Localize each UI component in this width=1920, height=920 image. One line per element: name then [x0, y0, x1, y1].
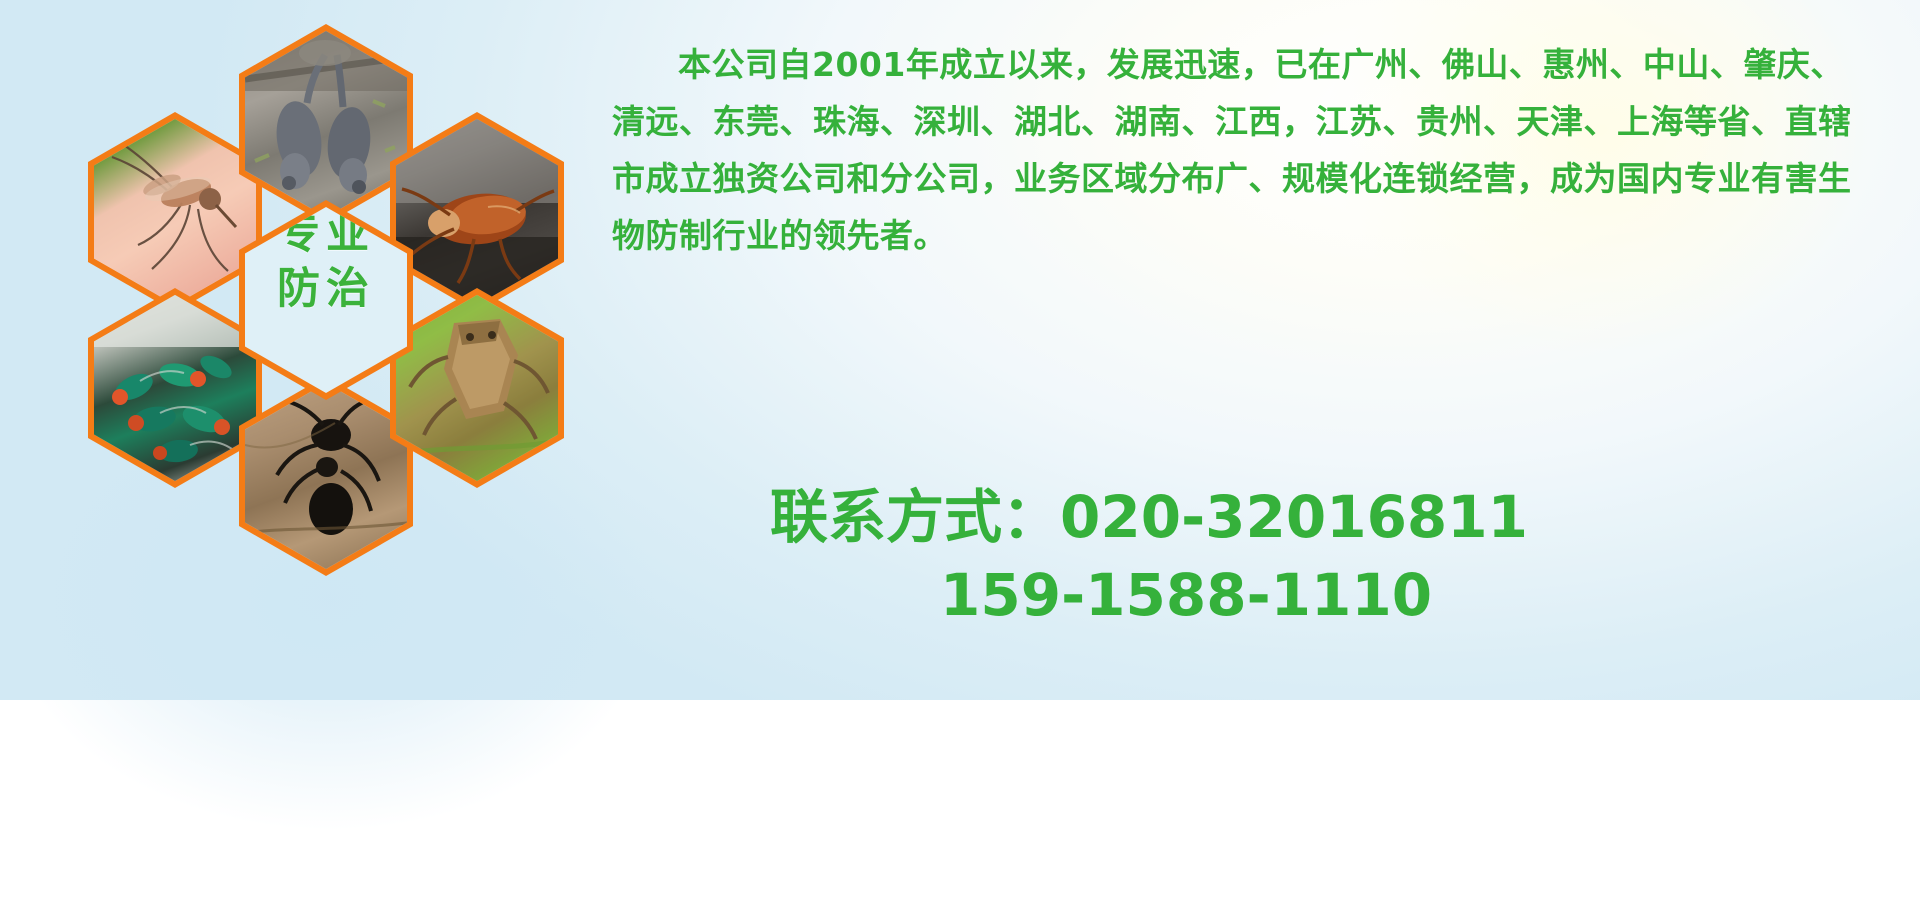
contact-phone-mobile[interactable]: 159-1588-1110 — [770, 556, 1770, 634]
hex-badge-frame: 专业 防治 — [245, 207, 407, 393]
hex-badge-text: 专业 防治 — [245, 207, 407, 317]
hex-photo-stink-bug-frame — [396, 295, 558, 481]
hex-photo-rats[interactable] — [239, 24, 413, 224]
hex-photo-stink-bug[interactable] — [390, 288, 564, 488]
hex-badge-professional-control: 专业 防治 — [239, 200, 413, 400]
hex-photo-cockroach[interactable] — [390, 112, 564, 312]
hex-badge-line-2: 防治 — [245, 262, 407, 317]
mosquito-photo — [94, 119, 256, 305]
contact-phone-landline[interactable]: 联系方式：020-32016811 — [770, 478, 1770, 556]
pest-control-banner: 专业 防治 本公司自2001年成立以来，发展迅速，已在广州、佛山、惠州、中山、肇… — [0, 0, 1920, 700]
hex-photo-mosquito[interactable] — [88, 112, 262, 312]
hex-photo-ant[interactable] — [239, 376, 413, 576]
hexagon-photo-cluster: 专业 防治 — [88, 0, 588, 552]
rats-photo — [245, 31, 407, 217]
hex-photo-flies[interactable] — [88, 288, 262, 488]
hex-photo-rats-frame — [245, 31, 407, 217]
ant-photo — [245, 383, 407, 569]
contact-block: 联系方式：020-32016811 159-1588-1110 — [770, 478, 1770, 634]
hex-badge-line-1: 专业 — [245, 207, 407, 262]
company-description-paragraph: 本公司自2001年成立以来，发展迅速，已在广州、佛山、惠州、中山、肇庆、清远、东… — [612, 36, 1862, 264]
hex-photo-mosquito-frame — [94, 119, 256, 305]
cockroach-photo — [396, 119, 558, 305]
flies-photo — [94, 295, 256, 481]
stink-bug-photo — [396, 295, 558, 481]
hex-photo-cockroach-frame — [396, 119, 558, 305]
hex-photo-flies-frame — [94, 295, 256, 481]
hex-photo-ant-frame — [245, 383, 407, 569]
